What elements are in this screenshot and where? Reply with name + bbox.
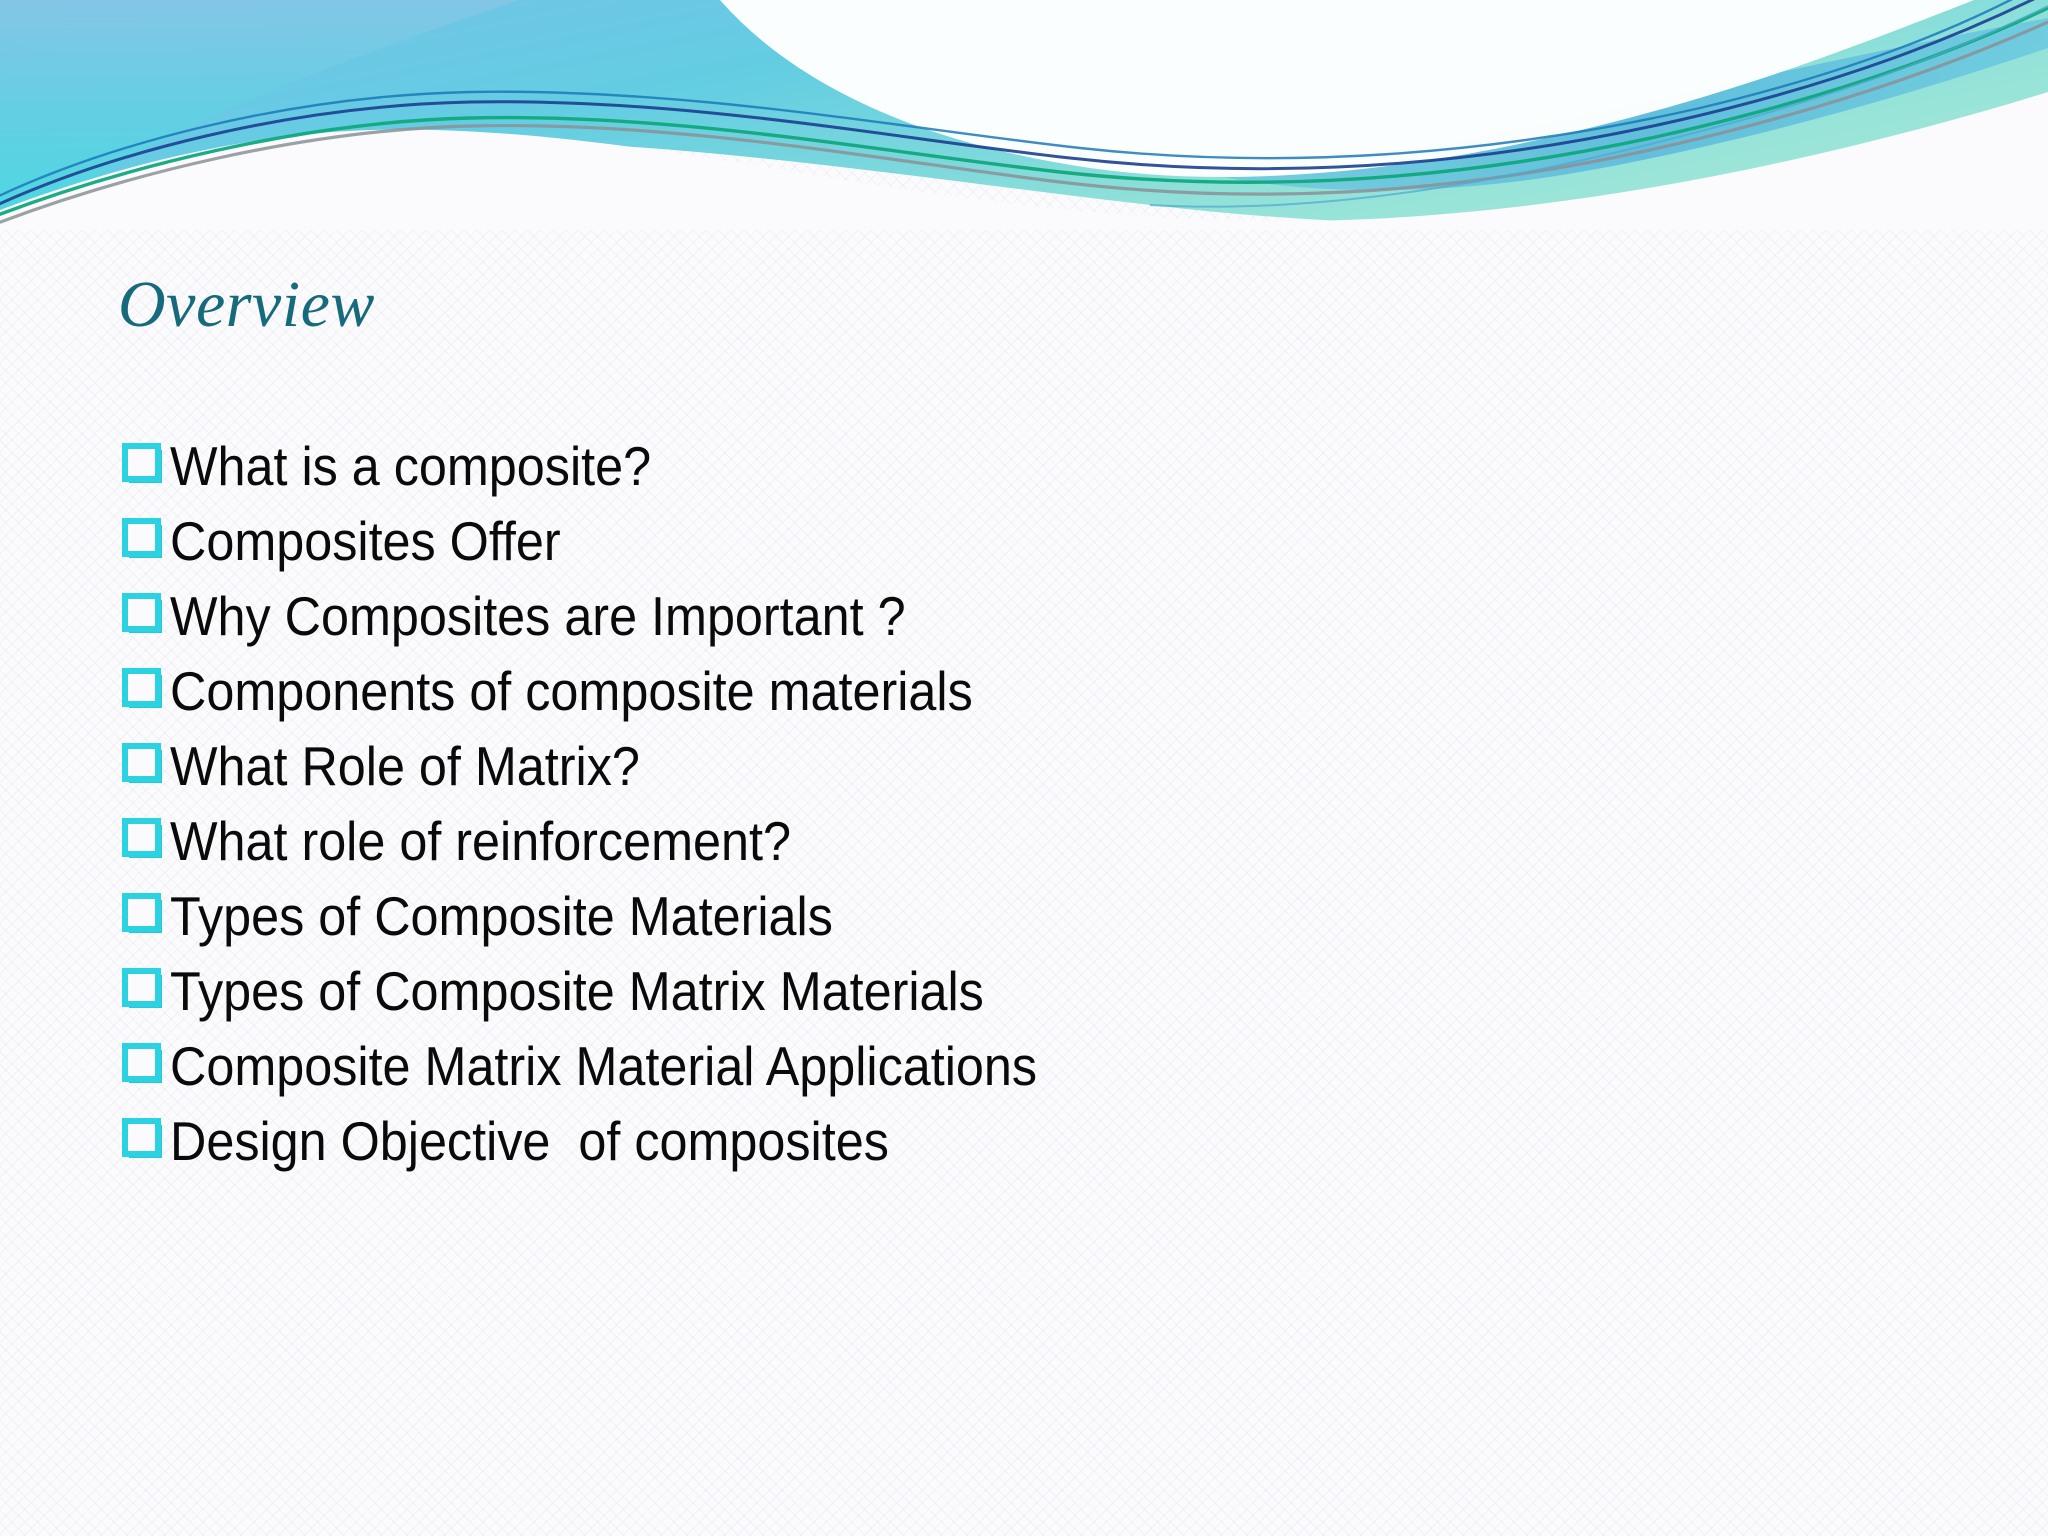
page-title: Overview: [118, 272, 375, 338]
list-item-label: Components of composite materials: [170, 657, 973, 725]
hollow-square-bullet-icon: [122, 593, 166, 639]
banner-artwork: [0, 0, 2048, 230]
list-item[interactable]: Components of composite materials: [122, 657, 1922, 732]
decorative-wave-banner: [0, 0, 2048, 230]
list-item[interactable]: What Role of Matrix?: [122, 732, 1922, 807]
hollow-square-bullet-icon: [122, 818, 166, 864]
list-item[interactable]: What is a composite?: [122, 432, 1922, 507]
list-item-label: What is a composite?: [170, 432, 651, 500]
hollow-square-bullet-icon: [122, 668, 166, 714]
list-item-label: What Role of Matrix?: [170, 732, 640, 800]
hollow-square-bullet-icon: [122, 1118, 166, 1164]
list-item[interactable]: Composites Offer: [122, 507, 1922, 582]
hollow-square-bullet-icon: [122, 893, 166, 939]
hollow-square-bullet-icon: [122, 968, 166, 1014]
list-item-label: Why Composites are Important ?: [170, 582, 906, 650]
presentation-slide: Overview What is a composite? Composites…: [0, 0, 2048, 1536]
list-item-label: Composite Matrix Material Applications: [170, 1032, 1037, 1100]
hollow-square-bullet-icon: [122, 443, 166, 489]
list-item-label: Types of Composite Materials: [170, 882, 833, 950]
list-item[interactable]: Why Composites are Important ?: [122, 582, 1922, 657]
list-item-label: Design Objective of composites: [170, 1107, 889, 1175]
list-item-label: Composites Offer: [170, 507, 561, 575]
hollow-square-bullet-icon: [122, 743, 166, 789]
list-item[interactable]: Types of Composite Matrix Materials: [122, 957, 1922, 1032]
overview-bullet-list: What is a composite? Composites Offer Wh…: [122, 432, 1922, 1182]
hollow-square-bullet-icon: [122, 1043, 166, 1089]
hollow-square-bullet-icon: [122, 518, 166, 564]
list-item-label: Types of Composite Matrix Materials: [170, 957, 984, 1025]
list-item[interactable]: What role of reinforcement?: [122, 807, 1922, 882]
list-item[interactable]: Composite Matrix Material Applications: [122, 1032, 1922, 1107]
list-item-label: What role of reinforcement?: [170, 807, 791, 875]
list-item[interactable]: Types of Composite Materials: [122, 882, 1922, 957]
list-item[interactable]: Design Objective of composites: [122, 1107, 1922, 1182]
